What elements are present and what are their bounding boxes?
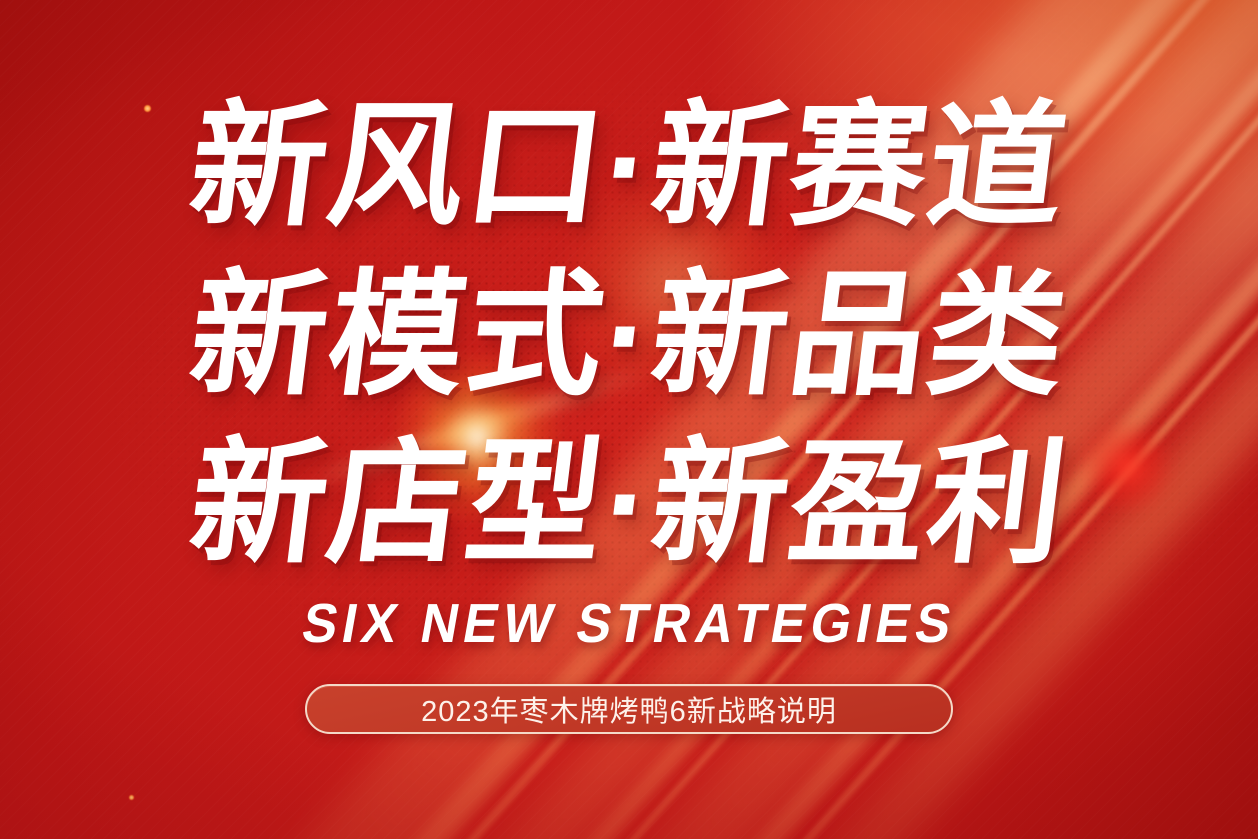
subtitle-badge: 2023年枣木牌烤鸭6新战略说明 [305,684,953,734]
poster-canvas: 新风口·新赛道 新模式·新品类 新店型·新盈利 SIX NEW STRATEGI… [0,0,1258,839]
headline-line-3: 新店型·新盈利 [0,419,1258,588]
poster-content: 新风口·新赛道 新模式·新品类 新店型·新盈利 SIX NEW STRATEGI… [0,0,1258,839]
badge-wrap: 2023年枣木牌烤鸭6新战略说明 [305,684,953,734]
headline-line-2: 新模式·新品类 [0,251,1258,420]
headline-block: 新风口·新赛道 新模式·新品类 新店型·新盈利 [0,82,1258,588]
headline-line-1: 新风口·新赛道 [0,82,1258,251]
badge-label: 2023年枣木牌烤鸭6新战略说明 [421,688,837,730]
english-subtitle: SIX NEW STRATEGIES [297,592,961,656]
